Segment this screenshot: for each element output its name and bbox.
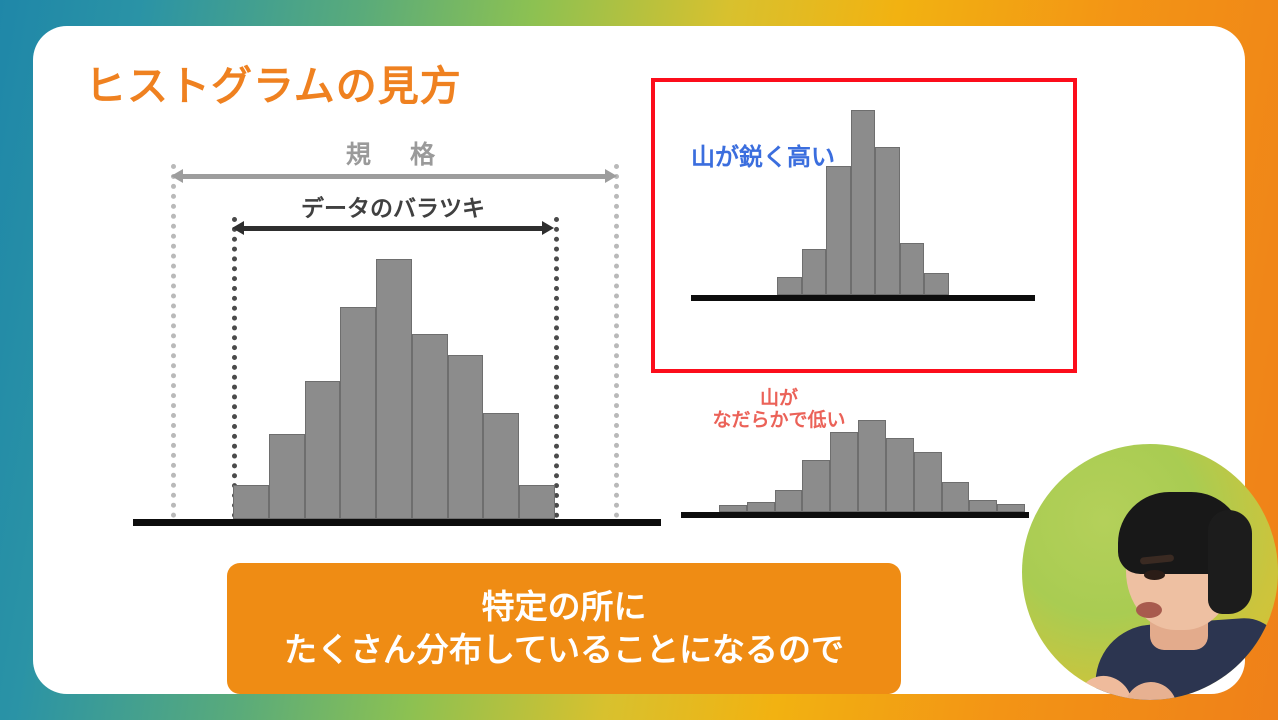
presenter-mouth (1136, 602, 1162, 618)
histogram-bar (875, 147, 900, 295)
histogram-bar (858, 420, 886, 512)
sharp-histogram-bars (777, 110, 949, 295)
histogram-bar (802, 249, 827, 295)
slide-stage: ヒストグラムの見方 規 格 データのバラツキ (0, 0, 1278, 720)
main-histogram-baseline (133, 519, 661, 526)
histogram-bar (924, 273, 949, 295)
main-histogram-chart: 規 格 データのバラツキ (101, 131, 661, 526)
histogram-bar (802, 460, 830, 512)
caption-banner: 特定の所に たくさん分布していることになるので (227, 563, 901, 694)
histogram-bar (900, 243, 925, 295)
histogram-bar (519, 485, 555, 519)
histogram-bar (851, 110, 876, 295)
histogram-bar (747, 502, 775, 512)
histogram-bar (830, 432, 858, 512)
main-histogram-bars (233, 254, 555, 519)
presenter-video-bubble (1022, 444, 1278, 720)
histogram-bar (777, 277, 802, 296)
histogram-bar (969, 500, 997, 512)
presenter-circle-frame (1022, 444, 1278, 700)
spread-arrow-shaft (241, 226, 545, 231)
spec-limit-line-left (171, 164, 176, 518)
spec-double-arrow (171, 169, 617, 183)
histogram-bar (376, 259, 412, 519)
spread-double-arrow (232, 221, 554, 235)
spec-arrow-head-right (605, 169, 617, 183)
histogram-bar (233, 485, 269, 519)
histogram-bar (826, 166, 851, 296)
histogram-bar (305, 381, 341, 519)
spec-limit-line-right (614, 164, 619, 518)
page-title: ヒストグラムの見方 (85, 52, 462, 112)
presenter-hair-side (1208, 510, 1252, 614)
spread-label: データのバラツキ (232, 189, 554, 223)
spread-arrow-head-right (542, 221, 554, 235)
flat-histogram-bars (719, 420, 1025, 512)
flat-histogram-chart: 山が なだらかで低い (681, 388, 1081, 518)
flat-histogram-label-line1: 山が (689, 388, 869, 410)
histogram-bar (914, 452, 942, 512)
caption-line-2: たくさん分布していることになるので (284, 629, 844, 671)
histogram-bar (997, 504, 1025, 512)
histogram-bar (340, 307, 376, 519)
histogram-bar (886, 438, 914, 512)
histogram-bar (483, 413, 519, 519)
caption-line-1: 特定の所に (482, 586, 647, 628)
spec-arrow-shaft (180, 174, 608, 179)
histogram-bar (719, 505, 747, 512)
presenter-eye (1144, 570, 1165, 580)
spec-label: 規 格 (171, 135, 617, 171)
sharp-histogram-baseline (691, 295, 1035, 301)
sharp-histogram-highlight-box: 山が鋭く高い (651, 78, 1077, 373)
flat-histogram-baseline (681, 512, 1029, 518)
histogram-bar (448, 355, 484, 519)
histogram-bar (942, 482, 970, 512)
histogram-bar (775, 490, 803, 512)
histogram-bar (269, 434, 305, 519)
histogram-bar (412, 334, 448, 520)
